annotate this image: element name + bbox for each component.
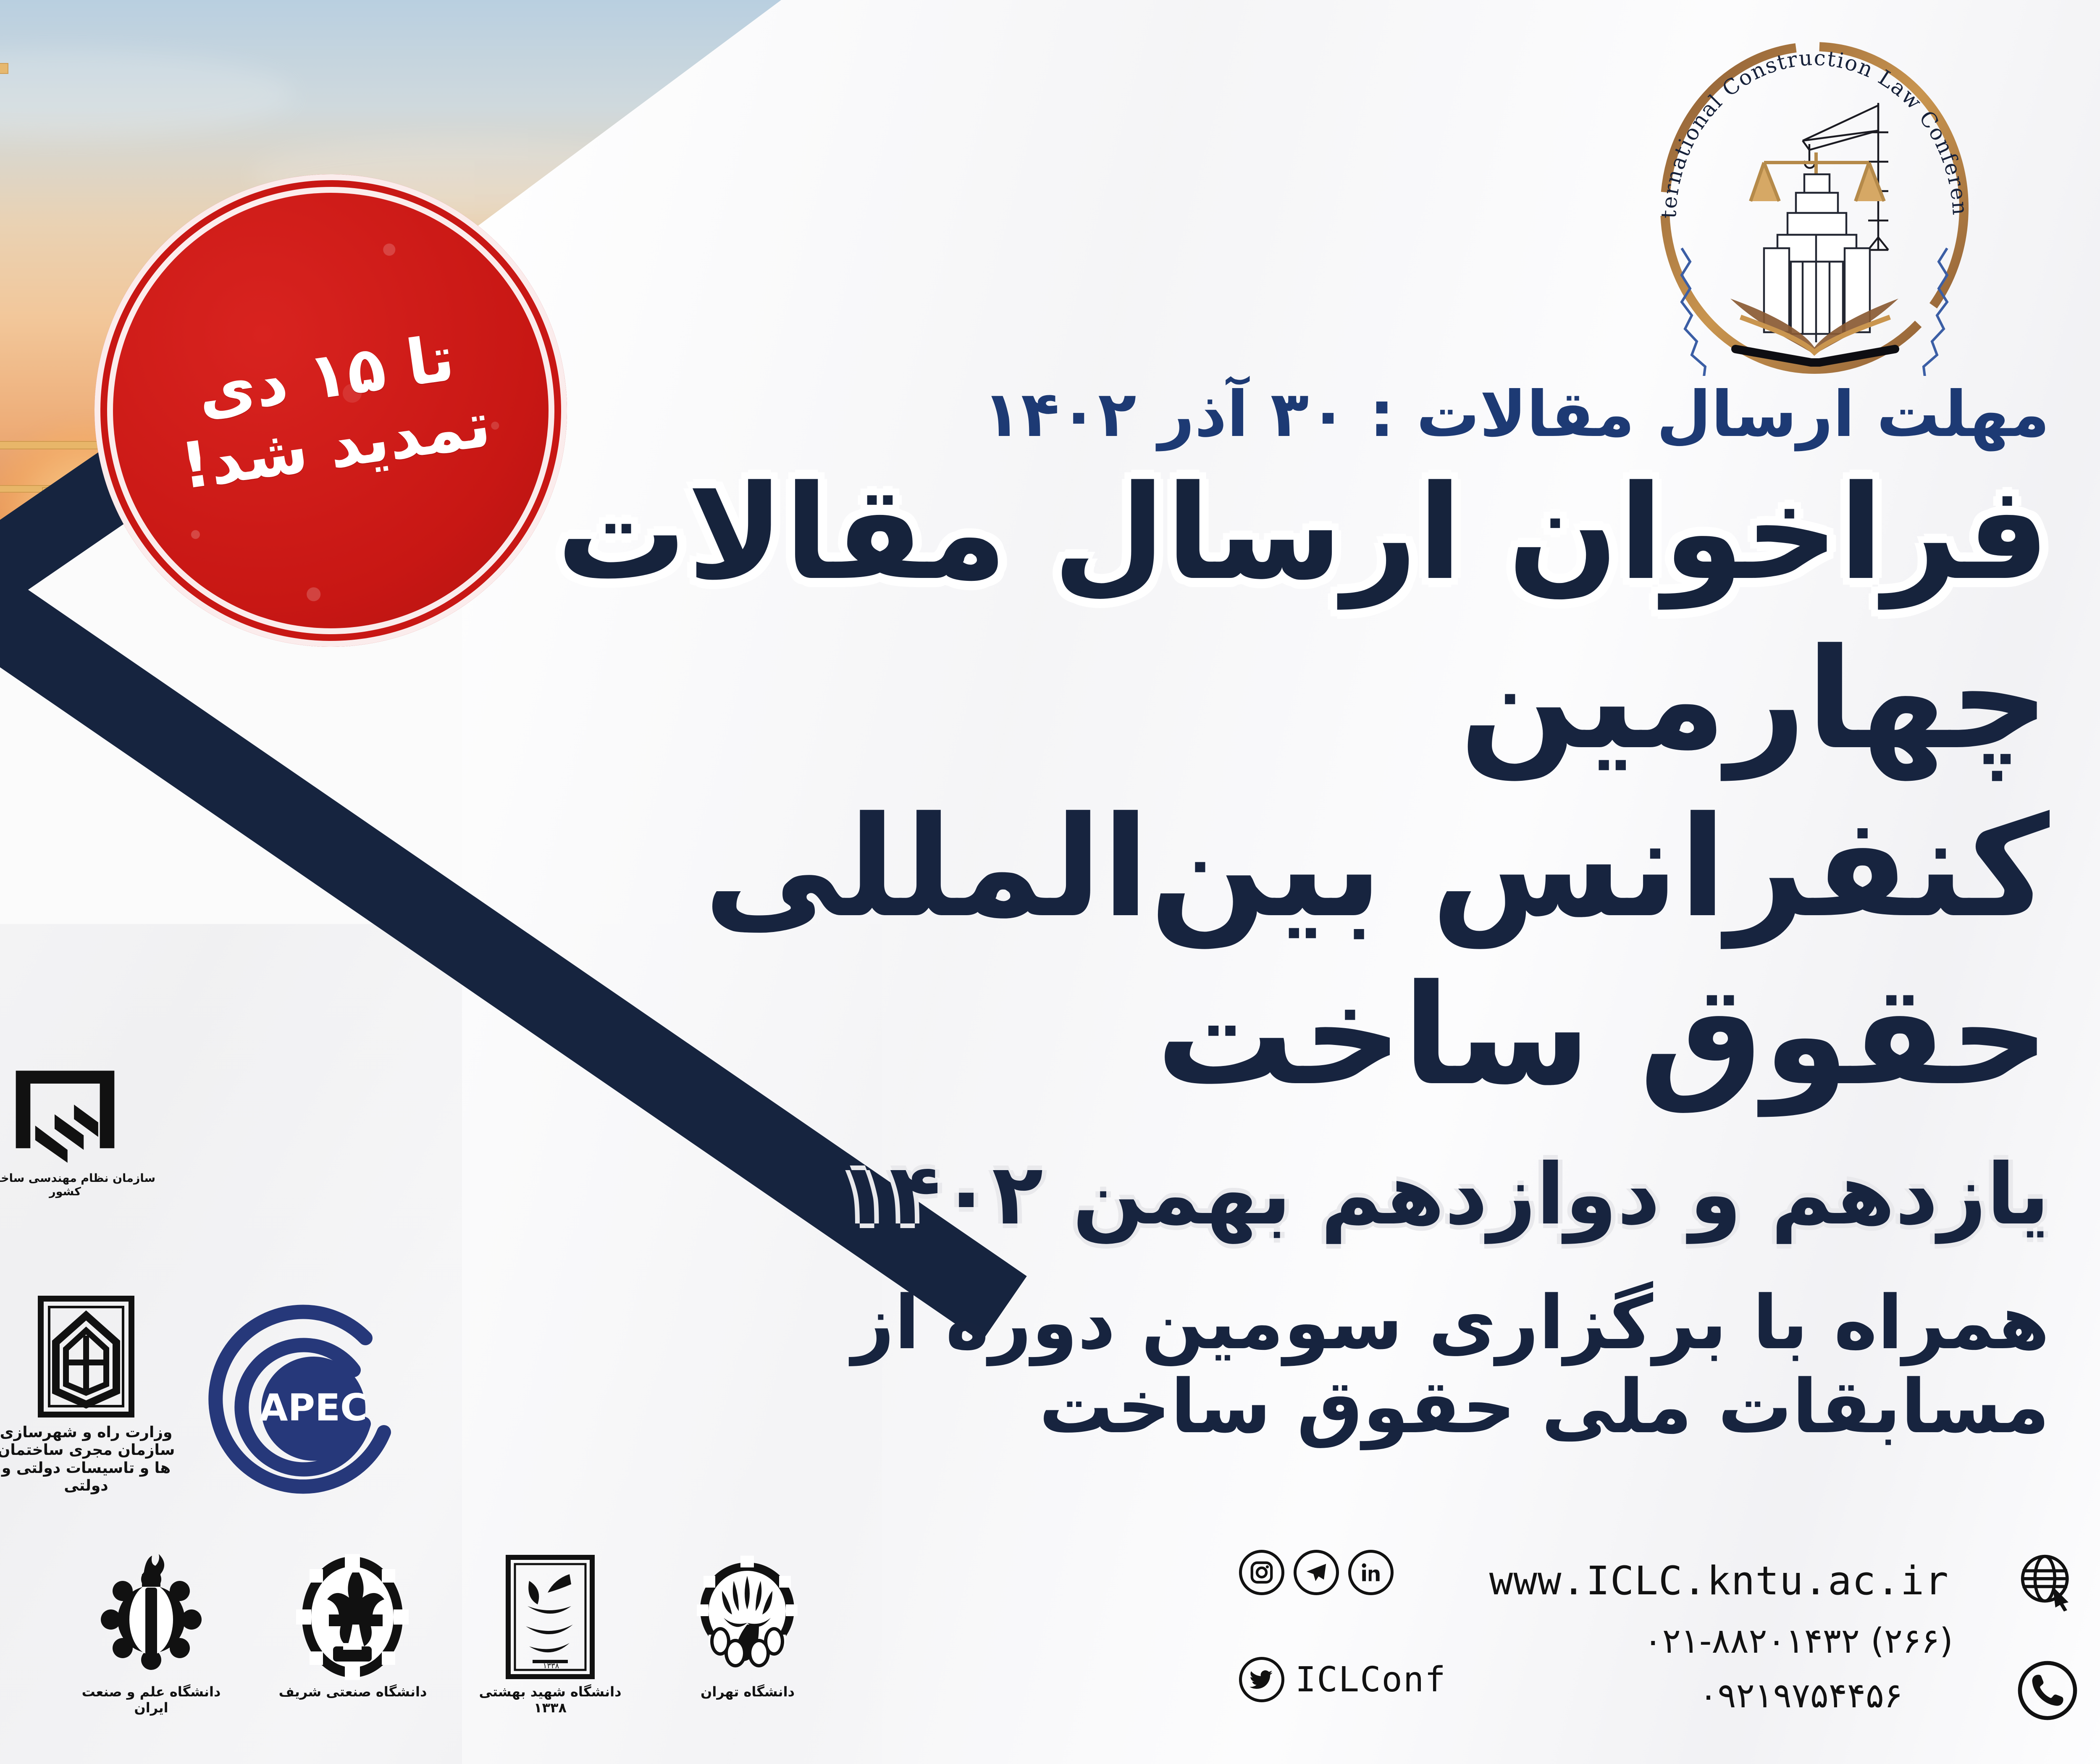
university-logo-sharif: دانشگاه صنعتی شریف bbox=[273, 1554, 433, 1700]
sponsor-caption: سازمان نظام مهندسی ساختمان کشور bbox=[0, 1172, 162, 1199]
university-caption-fa: دانشگاه تهران bbox=[701, 1684, 795, 1700]
conference-logo: International Construction Law Conferenc… bbox=[1630, 40, 1999, 376]
conference-poster: تا ۱۵ دی تمدید شد! International Constru… bbox=[0, 0, 2100, 1764]
university-logo-shahid-beheshti: ۱۳۳۸ دانشگاه شهید بهشتی ۱۳۳۸ bbox=[470, 1554, 630, 1716]
ut-gear-lotus-icon bbox=[695, 1554, 800, 1680]
mobile-number: ۰۹۲۱۹۷۵۴۴۵۶ bbox=[1699, 1676, 1903, 1716]
sponsor-caption: وزارت راه و شهرسازی سازمان مجری ساختمان … bbox=[0, 1424, 176, 1495]
sponsor-logo-ministry-of-roads-and-urban-development: وزارت راه و شهرسازی سازمان مجری ساختمان … bbox=[0, 1294, 176, 1495]
university-logo-university-of-tehran: دانشگاه تهران bbox=[668, 1554, 827, 1700]
linkedin-icon[interactable] bbox=[1348, 1550, 1394, 1595]
paper-submission-deadline: مهلت ارسال مقالات : ۳۰ آذر ۱۴۰۲ bbox=[982, 378, 2050, 451]
deadline-extended-stamp: تا ۱۵ دی تمدید شد! bbox=[64, 144, 598, 677]
building-chevrons-icon bbox=[4, 1063, 126, 1168]
phone-icon bbox=[2016, 1659, 2079, 1722]
subtitle-line-2: مسابقات ملی حقوق ساخت bbox=[1039, 1369, 2050, 1445]
university-logo-azad-science-research: دانشگاه آزاد اسلامی واحد علوم و تحقیقات bbox=[0, 1571, 4, 1695]
apec-wordmark: APEC bbox=[259, 1386, 367, 1429]
twitter-icon[interactable] bbox=[1239, 1657, 1284, 1702]
title-line-1: چهارمین bbox=[1459, 630, 2050, 769]
window-frame-icon bbox=[36, 1294, 136, 1420]
title-line-2: کنفرانس بین‌المللی bbox=[703, 798, 2050, 937]
university-caption-fa: دانشگاه آزاد اسلامی واحد علوم و تحقیقات bbox=[0, 1663, 4, 1695]
social-icons-row bbox=[1239, 1550, 1394, 1595]
instagram-icon[interactable] bbox=[1239, 1550, 1284, 1595]
university-logo-iust: دانشگاه علم و صنعت ایران bbox=[63, 1554, 239, 1716]
call-for-papers-heading: فراخوان ارسال مقالات bbox=[556, 468, 2050, 598]
globe-icon bbox=[2016, 1550, 2079, 1613]
iust-gear-torch-icon bbox=[97, 1554, 206, 1680]
sponsor-logo-apec: APEC bbox=[206, 1298, 424, 1516]
apec-swirl-icon: APEC bbox=[206, 1298, 424, 1516]
website-url[interactable]: www.ICLC.kntu.ac.ir bbox=[1489, 1558, 1949, 1604]
beheshti-framed-calligraphy-icon: ۱۳۳۸ bbox=[504, 1554, 596, 1680]
sponsor-logo-construction-engineering-organization: سازمان نظام مهندسی ساختمان کشور bbox=[0, 1063, 162, 1199]
telephone-number: ۰۲۱-۸۸۲۰۱۴۳۲ (۲۶۶) bbox=[1644, 1621, 1953, 1661]
telegram-icon[interactable] bbox=[1294, 1550, 1339, 1595]
contact-block: ICLConf www.ICLC.kntu.ac.ir ۰۲۱-۸۸۲۰۱۴۳۲… bbox=[1239, 1550, 2079, 1747]
title-line-3: حقوق ساخت bbox=[1156, 966, 2050, 1105]
svg-text:۱۳۳۸: ۱۳۳۸ bbox=[543, 1662, 559, 1670]
event-date: یازدهم و دوازدهم بهمن ۱۴۰۲ bbox=[838, 1153, 2050, 1237]
subtitle-line-1: همراه با برگزاری سومین دوره از bbox=[852, 1285, 2050, 1361]
sharif-gear-tulip-icon bbox=[296, 1554, 409, 1680]
twitter-row: ICLConf bbox=[1239, 1657, 1446, 1702]
university-caption-fa: دانشگاه شهید بهشتی ۱۳۳۸ bbox=[470, 1684, 630, 1716]
university-caption-fa: دانشگاه علم و صنعت ایران bbox=[63, 1684, 239, 1716]
university-caption-fa: دانشگاه صنعتی شریف bbox=[279, 1684, 427, 1700]
twitter-handle: ICLConf bbox=[1295, 1660, 1446, 1700]
